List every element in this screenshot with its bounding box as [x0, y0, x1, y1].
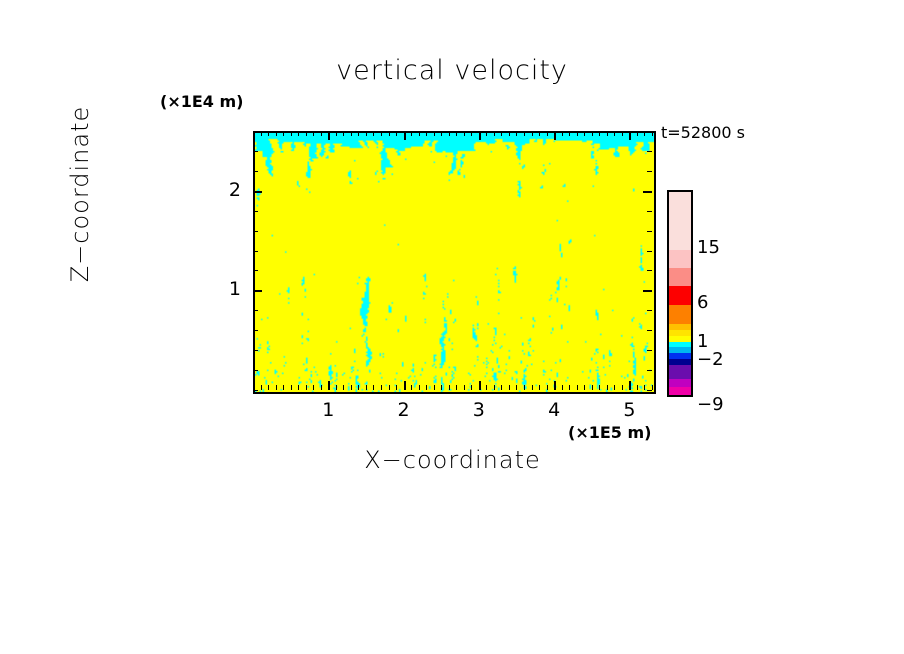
axis-tick — [358, 385, 359, 390]
axis-tick — [547, 131, 548, 136]
axis-tick — [253, 251, 258, 252]
axis-tick — [629, 381, 631, 390]
axis-tick — [328, 381, 330, 390]
axis-tick — [471, 131, 472, 136]
axis-tick — [336, 131, 337, 136]
axis-tick — [643, 191, 652, 193]
axis-tick — [389, 385, 390, 390]
colorbar-band — [669, 286, 691, 305]
axis-tick — [268, 385, 269, 390]
axis-tick — [291, 131, 292, 136]
axis-tick — [509, 385, 510, 390]
axis-tick — [592, 385, 593, 390]
axis-tick — [396, 385, 397, 390]
axis-tick — [366, 131, 367, 136]
axis-tick — [516, 385, 517, 390]
x-tick-label: 4 — [534, 399, 574, 421]
axis-tick — [426, 385, 427, 390]
axis-tick — [584, 131, 585, 136]
axis-tick — [381, 385, 382, 390]
axis-tick — [253, 191, 262, 193]
x-tick-label: 5 — [609, 399, 649, 421]
colorbar-tick-label: 6 — [697, 292, 708, 313]
axis-tick — [253, 211, 258, 212]
axis-tick — [644, 385, 645, 390]
axis-tick — [647, 390, 652, 391]
axis-tick — [321, 131, 322, 136]
axis-tick — [539, 385, 540, 390]
axis-tick — [584, 385, 585, 390]
axis-tick — [343, 131, 344, 136]
axis-tick — [592, 131, 593, 136]
y-tick-label: 2 — [201, 179, 241, 201]
axis-tick — [647, 251, 652, 252]
axis-tick — [449, 385, 450, 390]
axis-tick — [599, 131, 600, 136]
axis-tick — [313, 131, 314, 136]
axis-tick — [276, 131, 277, 136]
timestamp-annotation: t=52800 s — [661, 123, 745, 142]
axis-tick — [643, 290, 652, 292]
axis-tick — [373, 131, 374, 136]
axis-tick — [253, 310, 258, 311]
axis-tick — [343, 385, 344, 390]
axis-tick — [652, 131, 653, 136]
axis-tick — [389, 131, 390, 136]
axis-tick — [554, 131, 556, 140]
axis-tick — [253, 171, 258, 172]
axis-tick — [261, 131, 262, 136]
axis-tick — [532, 131, 533, 136]
axis-tick — [253, 231, 258, 232]
axis-tick — [647, 151, 652, 152]
axis-tick — [253, 131, 258, 132]
y-axis-label: Z−coordinate — [66, 54, 94, 334]
axis-tick — [479, 381, 481, 390]
axis-tick — [647, 310, 652, 311]
axis-tick — [479, 131, 481, 140]
axis-tick — [419, 385, 420, 390]
y-tick-label: 1 — [201, 278, 241, 300]
axis-tick — [607, 131, 608, 136]
axis-tick — [283, 385, 284, 390]
axis-tick — [614, 385, 615, 390]
axis-tick — [313, 385, 314, 390]
axis-tick — [253, 290, 262, 292]
axis-tick — [464, 385, 465, 390]
axis-tick — [637, 131, 638, 136]
axis-tick — [599, 385, 600, 390]
axis-tick — [253, 270, 258, 271]
axis-tick — [509, 131, 510, 136]
axis-tick — [494, 131, 495, 136]
page-title: vertical velocity — [0, 55, 904, 86]
axis-tick — [253, 151, 258, 152]
axis-tick — [306, 131, 307, 136]
figure-canvas: vertical velocity (×1E4 m) t=52800 s 123… — [0, 0, 904, 654]
colorbar-band — [669, 387, 691, 395]
axis-tick — [358, 131, 359, 136]
axis-tick — [268, 131, 269, 136]
axis-tick — [569, 131, 570, 136]
axis-tick — [486, 385, 487, 390]
axis-tick — [644, 131, 645, 136]
axis-tick — [647, 330, 652, 331]
axis-tick — [637, 385, 638, 390]
axis-tick — [501, 385, 502, 390]
axis-tick — [276, 385, 277, 390]
axis-tick — [647, 350, 652, 351]
axis-tick — [434, 131, 435, 136]
axis-tick — [411, 385, 412, 390]
x-tick-label: 1 — [308, 399, 348, 421]
axis-tick — [396, 131, 397, 136]
axis-tick — [647, 270, 652, 271]
axis-tick — [577, 385, 578, 390]
axis-tick — [336, 385, 337, 390]
axis-tick — [283, 131, 284, 136]
axis-tick — [622, 385, 623, 390]
axis-tick — [366, 385, 367, 390]
axis-tick — [614, 131, 615, 136]
axis-tick — [253, 350, 258, 351]
colorbar-band — [669, 250, 691, 268]
y-axis-units: (×1E4 m) — [160, 92, 243, 111]
axis-tick — [253, 370, 258, 371]
axis-tick — [321, 385, 322, 390]
x-axis-label: X−coordinate — [253, 446, 652, 474]
axis-tick — [253, 390, 258, 391]
axis-tick — [516, 131, 517, 136]
axis-tick — [381, 131, 382, 136]
axis-tick — [569, 385, 570, 390]
axis-tick — [449, 131, 450, 136]
axis-tick — [607, 385, 608, 390]
axis-tick — [441, 131, 442, 136]
axis-tick — [524, 131, 525, 136]
axis-tick — [562, 131, 563, 136]
axis-tick — [647, 211, 652, 212]
axis-tick — [494, 385, 495, 390]
axis-tick — [411, 131, 412, 136]
axis-tick — [291, 385, 292, 390]
axis-tick — [652, 385, 653, 390]
colorbar[interactable] — [667, 190, 693, 397]
axis-tick — [471, 385, 472, 390]
colorbar-band — [669, 305, 691, 324]
axis-tick — [426, 131, 427, 136]
axis-tick — [501, 131, 502, 136]
axis-tick — [298, 131, 299, 136]
axis-tick — [373, 385, 374, 390]
colorbar-band — [669, 192, 691, 250]
axis-tick — [554, 381, 556, 390]
axis-tick — [464, 131, 465, 136]
axis-tick — [524, 385, 525, 390]
axis-tick — [351, 131, 352, 136]
axis-tick — [441, 385, 442, 390]
x-tick-label: 2 — [384, 399, 424, 421]
axis-tick — [647, 131, 652, 132]
axis-tick — [351, 385, 352, 390]
axis-tick — [532, 385, 533, 390]
axis-tick — [306, 385, 307, 390]
colorbar-band — [669, 379, 691, 387]
colorbar-tick-label: 15 — [697, 237, 720, 258]
x-tick-label: 3 — [459, 399, 499, 421]
axis-tick — [456, 385, 457, 390]
plot-area[interactable] — [253, 131, 656, 394]
x-axis-units: (×1E5 m) — [568, 423, 651, 442]
axis-tick — [434, 385, 435, 390]
axis-tick — [404, 381, 406, 390]
axis-tick — [647, 370, 652, 371]
axis-tick — [629, 131, 631, 140]
axis-tick — [547, 385, 548, 390]
axis-tick — [298, 385, 299, 390]
axis-tick — [622, 131, 623, 136]
axis-tick — [647, 231, 652, 232]
axis-tick — [486, 131, 487, 136]
axis-tick — [253, 330, 258, 331]
axis-tick — [261, 385, 262, 390]
axis-tick — [647, 171, 652, 172]
axis-tick — [456, 131, 457, 136]
axis-tick — [562, 385, 563, 390]
axis-tick — [419, 131, 420, 136]
colorbar-tick-label: −9 — [697, 394, 724, 415]
colorbar-band — [669, 268, 691, 286]
axis-tick — [577, 131, 578, 136]
colorbar-tick-label: −2 — [697, 349, 724, 370]
axis-tick — [539, 131, 540, 136]
axis-tick — [404, 131, 406, 140]
velocity-field-image — [255, 133, 654, 392]
colorbar-band — [669, 365, 691, 379]
axis-tick — [328, 131, 330, 140]
